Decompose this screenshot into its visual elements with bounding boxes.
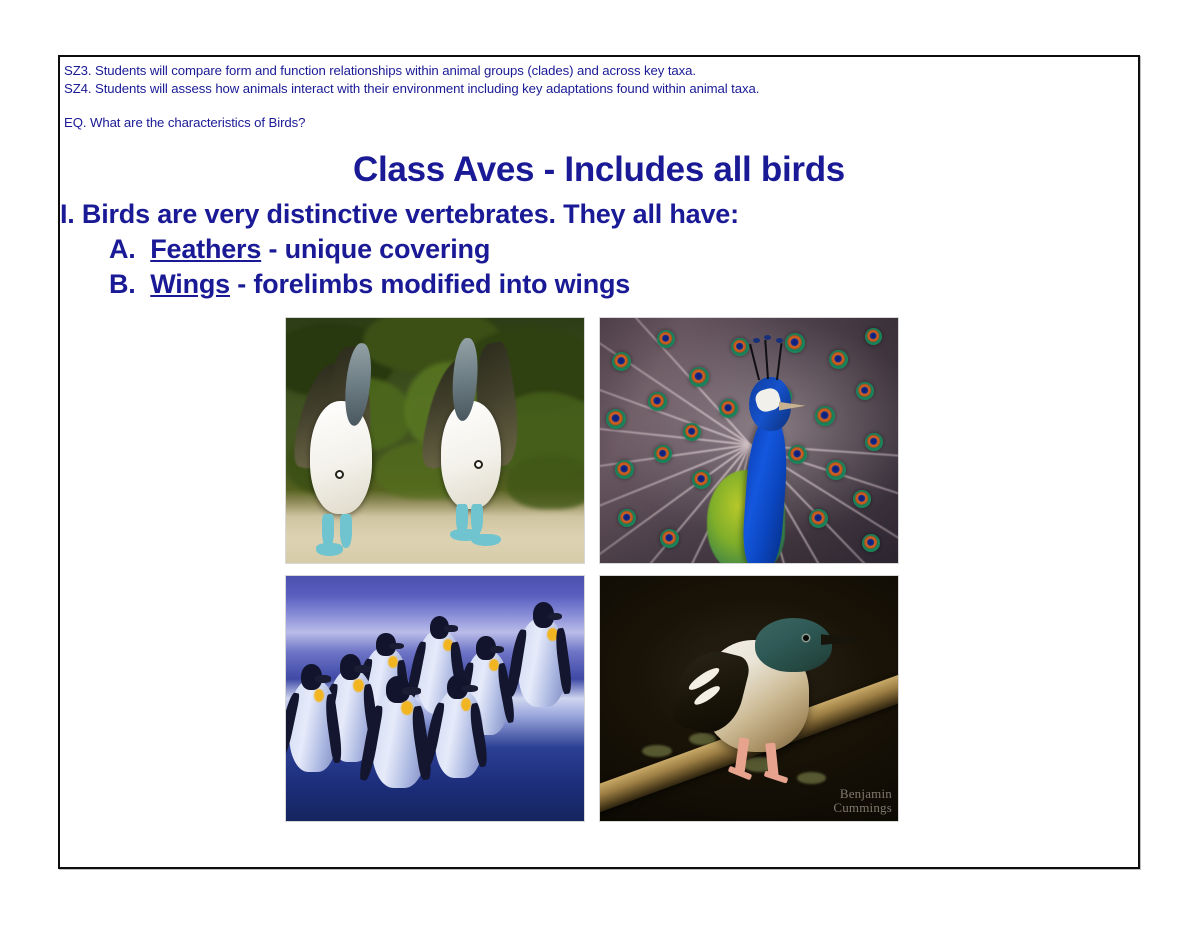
photo-blue-footed-boobies — [285, 317, 585, 564]
outline-item-b: B. Wings - forelimbs modified into wings — [60, 267, 1138, 302]
bird-photo-grid: Benjamin Cummings — [285, 317, 899, 822]
outline-item-i: I. Birds are very distinctive vertebrate… — [60, 197, 1138, 232]
essential-question: EQ. What are the characteristics of Bird… — [64, 114, 305, 132]
outline-item-b-description: forelimbs modified into wings — [253, 269, 630, 299]
watermark-line-2: Cummings — [833, 801, 892, 815]
standard-sz3: SZ3. Students will compare form and func… — [64, 62, 1134, 80]
outline-item-b-dash: - — [230, 269, 253, 299]
outline-item-a-marker: A. — [109, 234, 136, 264]
standard-sz4: SZ4. Students will assess how animals in… — [64, 80, 1134, 98]
outline-item-a-term: Feathers — [150, 234, 261, 264]
outline-item-a: A. Feathers - unique covering — [60, 232, 1138, 267]
outline-item-b-marker: B. — [109, 269, 136, 299]
photo-credit-watermark: Benjamin Cummings — [833, 787, 892, 815]
outline-list: I. Birds are very distinctive vertebrate… — [60, 197, 1138, 302]
page-title: Class Aves - Includes all birds — [60, 150, 1138, 190]
outline-item-a-description: unique covering — [285, 234, 491, 264]
photo-king-penguins — [285, 575, 585, 822]
watermark-line-1: Benjamin — [833, 787, 892, 801]
photo-peacock — [599, 317, 899, 564]
slide-frame: SZ3. Students will compare form and func… — [58, 55, 1140, 869]
outline-item-b-term: Wings — [150, 269, 230, 299]
standards-block: SZ3. Students will compare form and func… — [64, 62, 1134, 97]
outline-item-a-dash: - — [261, 234, 284, 264]
photo-songbird: Benjamin Cummings — [599, 575, 899, 822]
